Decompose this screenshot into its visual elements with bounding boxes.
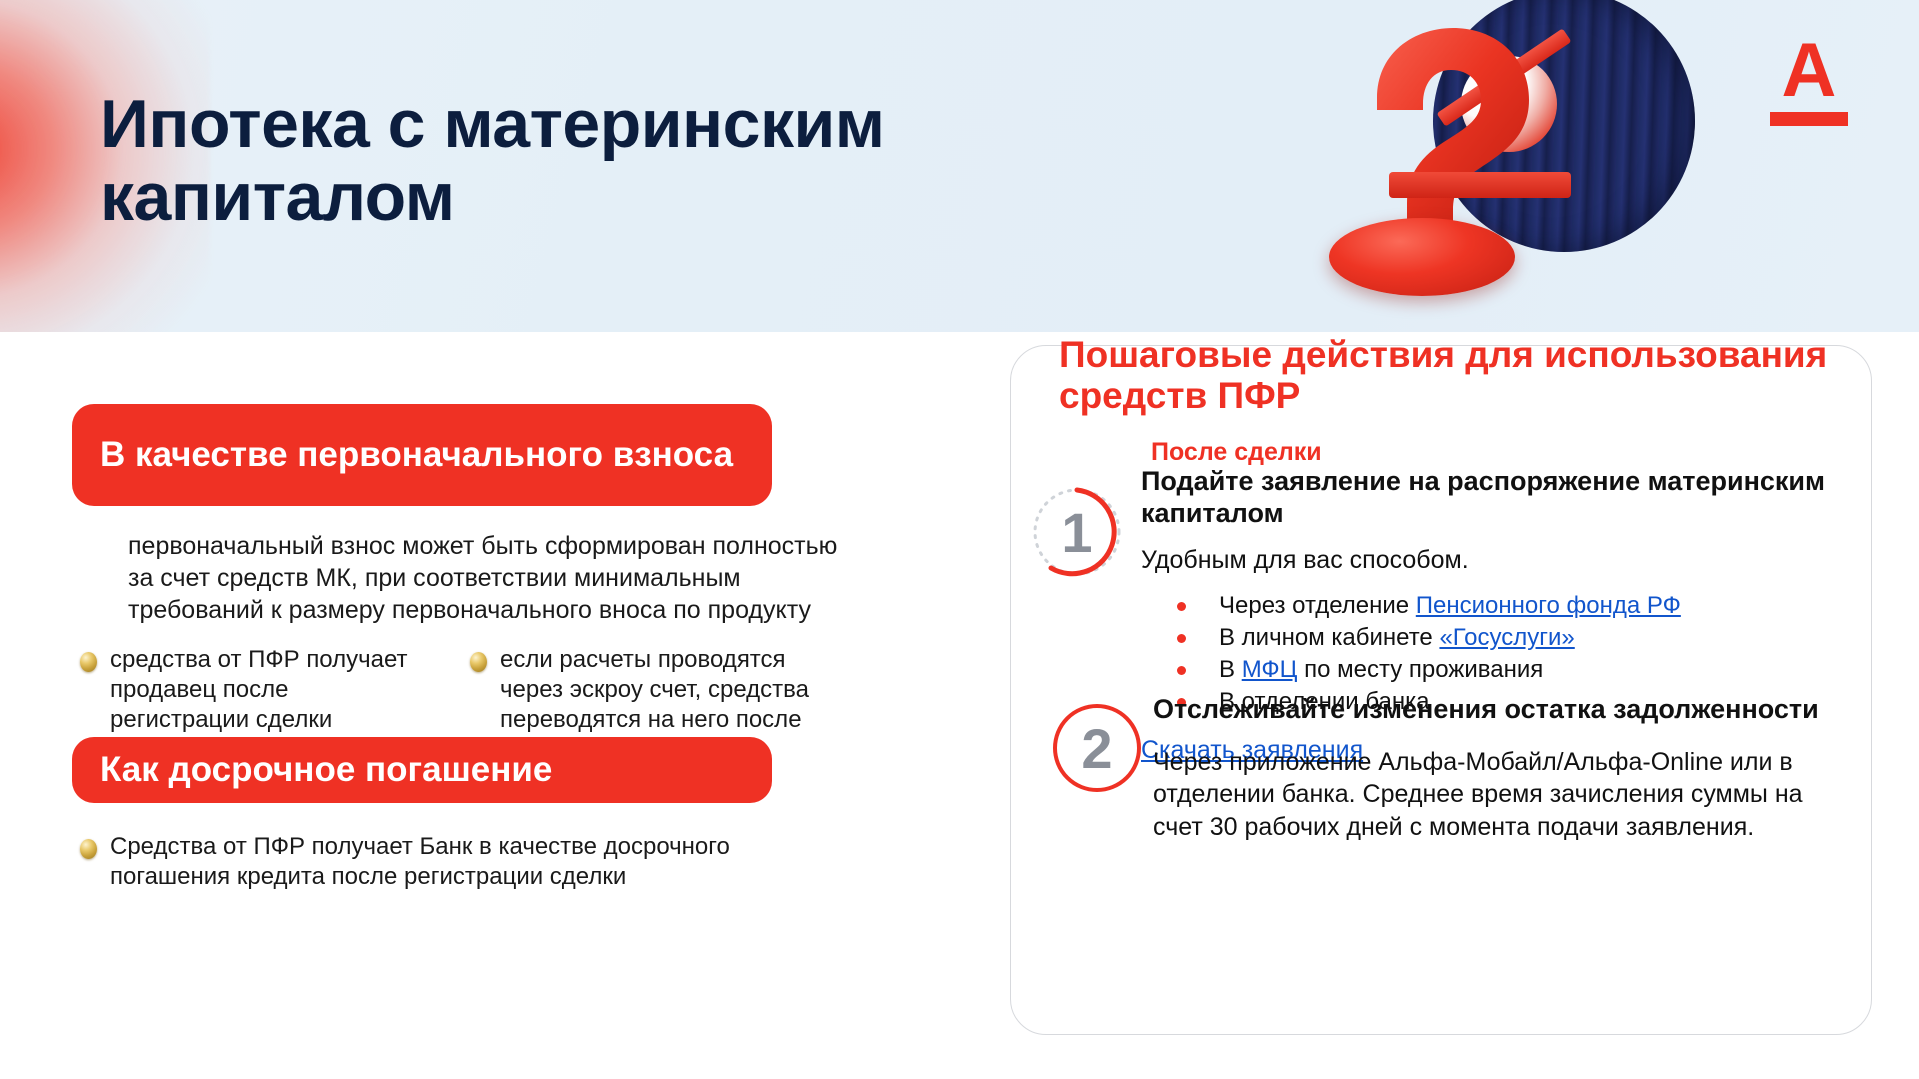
infographic-page: Ипотека с материнским капиталом <box>0 0 1919 1079</box>
step-1-heading: Подайте заявление на распоряжение матери… <box>1141 466 1853 530</box>
logo-letter: А <box>1763 40 1855 102</box>
alfa-bank-logo: А <box>1763 40 1855 126</box>
list-item: В МФЦ по месту проживания <box>1177 654 1853 686</box>
gold-bullet-icon <box>80 652 97 672</box>
steps-card: Пошаговые действия для использования сре… <box>1010 345 1872 1035</box>
early-repayment-bullets: Средства от ПФР получает Банк в качестве… <box>80 832 840 892</box>
step-2-content: Отслеживайте изменения остатка задолженн… <box>1153 694 1853 843</box>
option-suffix: по месту проживания <box>1297 656 1543 683</box>
steps-card-title: Пошаговые действия для использования сре… <box>1059 334 1859 417</box>
left-content-column: В качестве первоначального взноса первон… <box>0 332 980 1079</box>
gold-bullet-icon <box>80 839 97 859</box>
red-base-ellipse-icon <box>1329 218 1515 296</box>
steps-card-subtitle: После сделки <box>1151 438 1322 467</box>
step-2-body: Через приложение Альфа-Мобайл/Альфа-Onli… <box>1153 746 1853 844</box>
step-2-circle: 2 <box>1049 700 1145 796</box>
initial-payment-description: первоначальный взнос может быть сформиро… <box>128 530 848 626</box>
step-1-number: 1 <box>1029 484 1125 580</box>
gold-bullet-icon <box>470 652 487 672</box>
banner-initial-payment: В качестве первоначального взноса <box>72 404 772 506</box>
list-item: В личном кабинете «Госуслуги» <box>1177 622 1853 654</box>
list-item: Через отделение Пенсионного фонда РФ <box>1177 590 1853 622</box>
banner-early-repayment: Как досрочное погашение <box>72 737 772 803</box>
list-item-label: средства от ПФР получает продавец после … <box>110 645 430 734</box>
link-mfc[interactable]: МФЦ <box>1242 656 1298 683</box>
step-1-body: Удобным для вас способом. <box>1141 544 1853 577</box>
list-item-label: Средства от ПФР получает Банк в качестве… <box>110 832 840 892</box>
logo-underline-bar <box>1770 112 1848 126</box>
option-prefix: В <box>1219 656 1242 683</box>
step-2-heading: Отслеживайте изменения остатка задолженн… <box>1153 694 1853 726</box>
link-pension-fund[interactable]: Пенсионного фонда РФ <box>1416 592 1681 619</box>
red-plate-icon <box>1389 172 1571 198</box>
list-item: средства от ПФР получает продавец после … <box>80 645 430 734</box>
hero-illustration <box>1293 0 1713 332</box>
page-title: Ипотека с материнским капиталом <box>100 88 1180 234</box>
option-prefix: В личном кабинете <box>1219 624 1439 651</box>
step-1-circle: 1 <box>1029 484 1125 580</box>
header-banner: Ипотека с материнским капиталом <box>0 0 1919 332</box>
step-2-number: 2 <box>1049 700 1145 796</box>
option-prefix: Через отделение <box>1219 592 1416 619</box>
link-gosuslugi[interactable]: «Госуслуги» <box>1439 624 1574 651</box>
